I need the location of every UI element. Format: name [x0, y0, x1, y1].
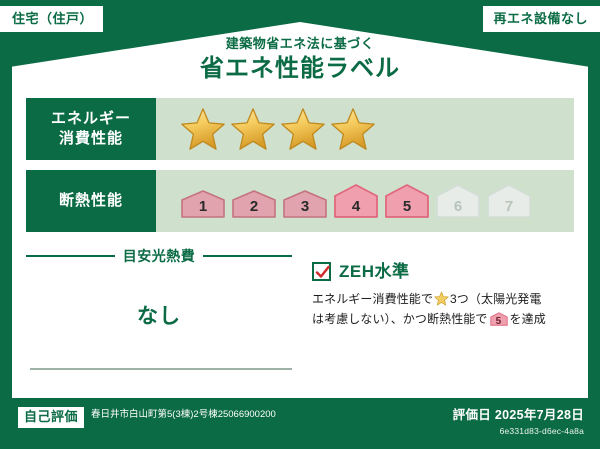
- insulation-level-number: 2: [231, 199, 277, 214]
- insulation-badge-inline: 5: [490, 311, 508, 327]
- zeh-description: エネルギー消費性能で3つ（太陽光発電 は考慮しない）、かつ断熱性能で5を達成: [312, 290, 574, 330]
- insulation-level-number: 7: [486, 199, 532, 214]
- zeh-heading: ZEH水準: [312, 262, 574, 281]
- label-content: エネルギー 消費性能: [26, 98, 574, 388]
- zeh-title: ZEH水準: [339, 263, 410, 280]
- building-name: 春日井市白山町第5(3棟)2号棟25066900200: [91, 407, 276, 422]
- zeh-desc-part2: は考慮しない）、かつ断熱性能で: [312, 312, 488, 326]
- insulation-performance-row: 断熱性能 1 2: [26, 170, 574, 232]
- utility-cost-heading: 目安光熱費: [26, 246, 292, 266]
- footer-left-group: 自己評価 春日井市白山町第5(3棟)2号棟25066900200: [18, 407, 276, 428]
- check-icon: [315, 265, 330, 280]
- insulation-level-number: 4: [333, 199, 379, 214]
- star-icon: [230, 106, 276, 152]
- self-evaluation-badge: 自己評価: [18, 407, 84, 428]
- zeh-desc-part1: エネルギー消費性能で: [312, 292, 433, 306]
- insulation-level-2: 2: [231, 189, 277, 219]
- label-title-block: 建築物省エネ法に基づく 省エネ性能ラベル: [0, 36, 600, 84]
- insulation-level-4: 4: [333, 183, 379, 219]
- title-subtitle: 建築物省エネ法に基づく: [0, 36, 600, 52]
- energy-performance-row: エネルギー 消費性能: [26, 98, 574, 160]
- star-icon: [330, 106, 376, 152]
- page-title: 省エネ性能ラベル: [0, 54, 600, 84]
- heading-rule-left: [26, 255, 115, 257]
- insulation-level-number: 3: [282, 199, 328, 214]
- insulation-level-number: 5: [384, 199, 430, 214]
- energy-performance-label: 住宅（住戸） 再エネ設備なし 建築物省エネ法に基づく 省エネ性能ラベル エネルギ…: [0, 0, 600, 449]
- insulation-label-text: 断熱性能: [59, 191, 123, 211]
- zeh-section: ZEH水準 エネルギー消費性能で3つ（太陽光発電 は考慮しない）、かつ断熱性能で…: [308, 246, 574, 396]
- star-icon: [280, 106, 326, 152]
- evaluation-id: 6e331d83-d6ec-4a8a: [453, 426, 584, 436]
- star-icon: [180, 106, 226, 152]
- badge-housing-type: 住宅（住戸）: [0, 6, 103, 32]
- energy-performance-value: [156, 98, 574, 160]
- utility-cost-section: 目安光熱費 なし: [26, 246, 308, 396]
- insulation-level-number: 1: [180, 199, 226, 214]
- insulation-level-number: 6: [435, 199, 481, 214]
- energy-performance-label: エネルギー 消費性能: [26, 98, 156, 160]
- heading-rule-right: [203, 255, 292, 257]
- footer-right-group: 評価日 2025年7月28日 6e331d83-d6ec-4a8a: [453, 408, 584, 436]
- insulation-badge-number: 5: [490, 317, 508, 327]
- insulation-level-7: 7: [486, 183, 532, 219]
- insulation-level-3: 3: [282, 189, 328, 219]
- badge-renewable-energy: 再エネ設備なし: [483, 6, 600, 32]
- zeh-desc-part3: を達成: [510, 312, 546, 326]
- utility-cost-value: なし: [26, 300, 292, 330]
- insulation-performance-label: 断熱性能: [26, 170, 156, 232]
- label-footer: 自己評価 春日井市白山町第5(3棟)2号棟25066900200 評価日 202…: [0, 398, 600, 449]
- energy-label-line2: 消費性能: [59, 129, 123, 149]
- energy-label-line1: エネルギー: [51, 109, 131, 129]
- evaluation-date: 評価日 2025年7月28日: [453, 408, 584, 423]
- utility-cost-divider: [30, 368, 292, 370]
- zeh-checkbox: [312, 262, 331, 281]
- utility-cost-heading-text: 目安光熱費: [123, 246, 196, 266]
- star-rating: [180, 106, 376, 152]
- insulation-level-1: 1: [180, 189, 226, 219]
- insulation-level-5: 5: [384, 183, 430, 219]
- insulation-level-6: 6: [435, 183, 481, 219]
- lower-section: 目安光熱費 なし ZEH水準 エネルギー消費性能で3つ（太陽光発電: [26, 246, 574, 396]
- insulation-scale: 1 2 3: [180, 183, 532, 219]
- zeh-desc-star-count: 3つ（太陽光発電: [450, 292, 541, 306]
- star-icon: [434, 291, 449, 306]
- insulation-performance-value: 1 2 3: [156, 170, 574, 232]
